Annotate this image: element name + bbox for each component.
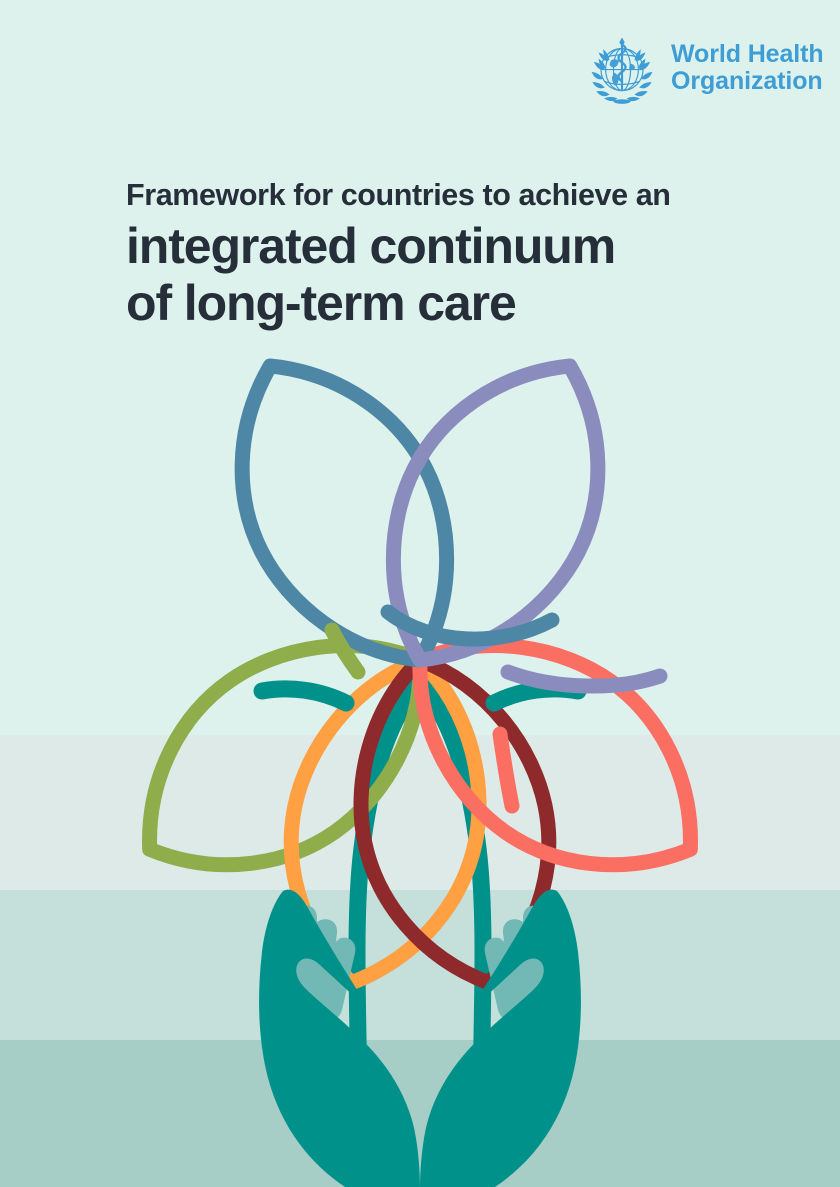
title-main-line1: integrated continuum (126, 218, 615, 274)
who-wordmark: World Health Organization (671, 41, 824, 95)
who-wordmark-line2: Organization (671, 68, 824, 95)
who-wordmark-line1: World Health (671, 41, 824, 68)
title-eyebrow: Framework for countries to achieve an (126, 178, 766, 212)
page-title: Framework for countries to achieve an in… (126, 178, 766, 332)
who-logo: World Health Organization (583, 28, 793, 108)
title-main: integrated continuum of long-term care (126, 218, 766, 332)
background-band-second (0, 735, 840, 890)
report-cover-page: World Health Organization Framework for … (0, 0, 840, 1187)
title-main-line2: of long-term care (126, 275, 516, 331)
who-emblem-icon (583, 29, 661, 107)
background-band-third (0, 890, 840, 1040)
background-band-bottom (0, 1040, 840, 1187)
background-band-top (0, 0, 840, 735)
